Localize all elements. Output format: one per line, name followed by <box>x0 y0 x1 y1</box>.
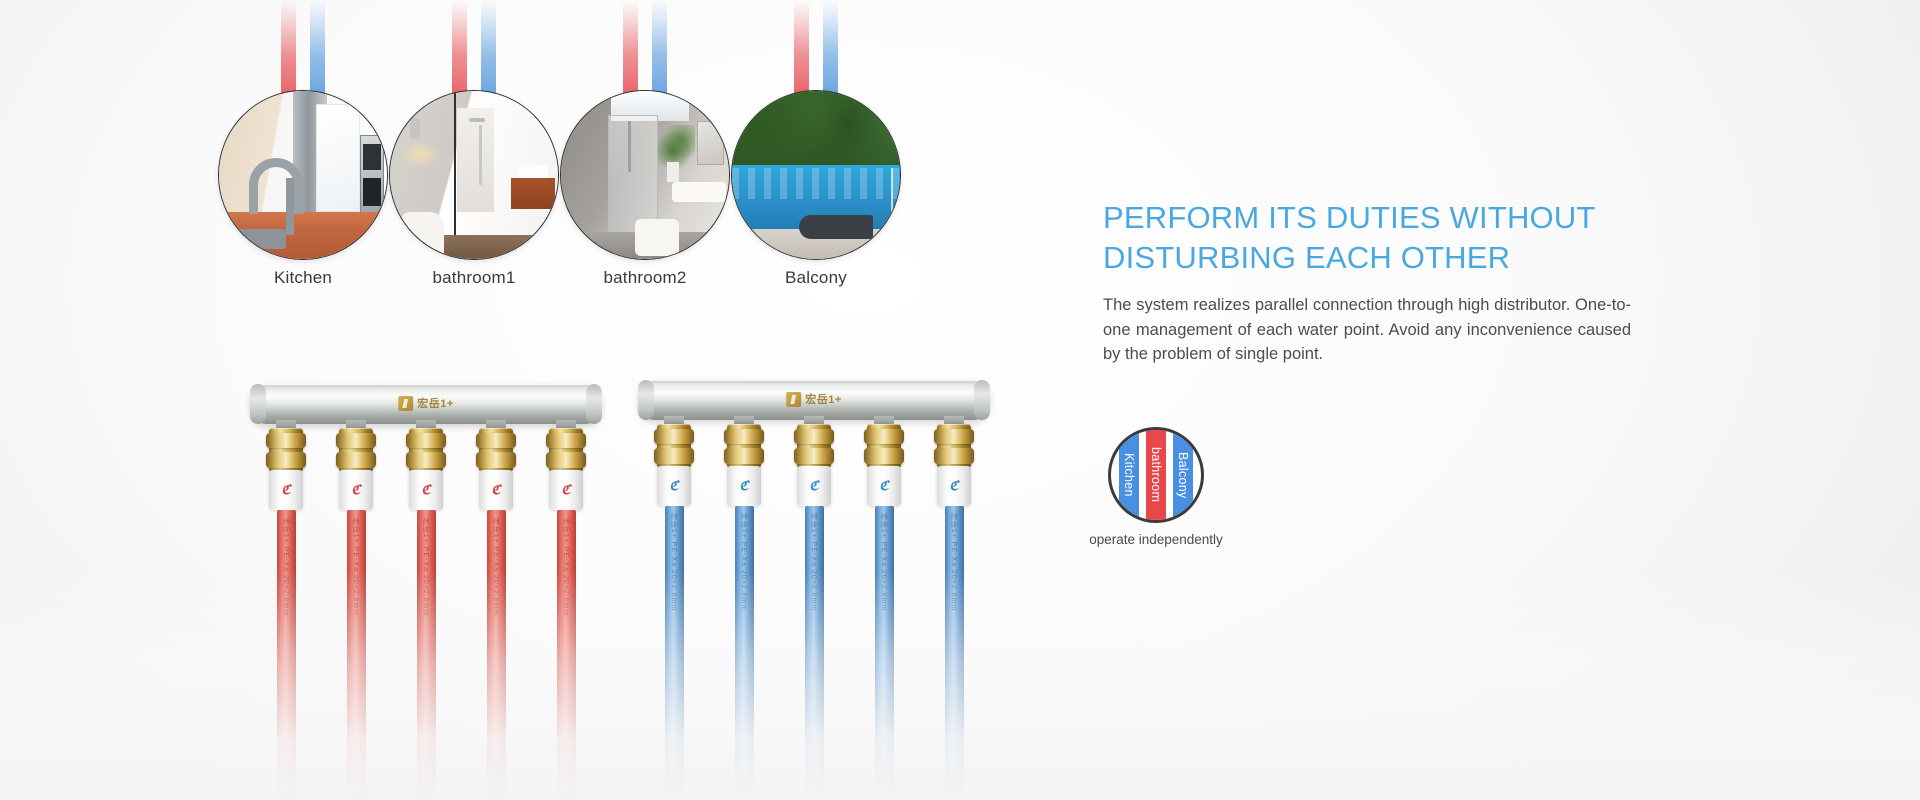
pipe-print: 宏岳1+ PE-Xa 20×2.8mm <box>421 518 431 616</box>
cold-water-pipe: 宏岳1+ PE-Xa 20×2.8mm <box>875 506 894 792</box>
outlet-assembly[interactable]: ℭ 宏岳1+ PE-Xa 20×2.8mm <box>727 424 761 792</box>
ppr-coupler: ℭ <box>269 470 303 510</box>
coupler-logo-icon: ℭ <box>949 478 958 494</box>
brass-hex-nut <box>934 429 974 444</box>
cold-water-pipe: 宏岳1+ PE-Xa 20×2.8mm <box>665 506 684 792</box>
page-title: PERFORM ITS DUTIES WITHOUT DISTURBING EA… <box>1103 198 1633 278</box>
description-text: The system realizes parallel connection … <box>1103 293 1631 367</box>
room-bathroom2[interactable]: bathroom2 <box>560 0 730 290</box>
badge-circle: KitchenbathroomBalcony <box>1108 427 1204 523</box>
room-label: Balcony <box>785 268 847 288</box>
brass-collar <box>266 452 306 468</box>
outlet-assembly[interactable]: ℭ 宏岳1+ PE-Xa 20×2.8mm <box>549 428 583 800</box>
brass-hex-nut <box>336 433 376 448</box>
hot-water-pipe: 宏岳1+ PE-Xa 20×2.8mm <box>417 510 436 800</box>
brass-fitting <box>479 428 513 472</box>
outlet-assembly[interactable]: ℭ 宏岳1+ PE-Xa 20×2.8mm <box>797 424 831 792</box>
hot-ribbon <box>794 0 809 96</box>
outlet-assembly[interactable]: ℭ 宏岳1+ PE-Xa 20×2.8mm <box>479 428 513 800</box>
badge-caption: operate independently <box>1086 532 1226 547</box>
brass-fitting <box>657 424 691 468</box>
pipe-print: 宏岳1+ PE-Xa 20×2.8mm <box>879 513 889 611</box>
ppr-coupler: ℭ <box>937 466 971 506</box>
hot-water-pipe: 宏岳1+ PE-Xa 20×2.8mm <box>557 510 576 800</box>
hot-water-pipe: 宏岳1+ PE-Xa 20×2.8mm <box>277 510 296 800</box>
pipe-ribbons <box>281 0 325 96</box>
brass-fitting <box>867 424 901 468</box>
room-photo-bathroom1[interactable] <box>389 90 559 260</box>
hot-ribbon <box>623 0 638 96</box>
coupler-logo-icon: ℭ <box>739 478 748 494</box>
tube-end-cap-left <box>638 380 654 420</box>
room-label: bathroom1 <box>432 268 515 288</box>
outlet-assembly[interactable]: ℭ 宏岳1+ PE-Xa 20×2.8mm <box>937 424 971 792</box>
badge-stripe-label: Kitchen <box>1122 453 1136 497</box>
brand-label: 宏岳1+ <box>398 395 454 411</box>
manifold-tube: 宏岳1+ <box>638 380 990 420</box>
ppr-coupler: ℭ <box>479 470 513 510</box>
brass-hex-nut <box>654 429 694 444</box>
ppr-coupler: ℭ <box>657 466 691 506</box>
badge-stripe-kitchen: Kitchen <box>1119 430 1139 520</box>
brand-mark-icon <box>786 392 801 407</box>
badge-stripe-label: bathroom <box>1149 447 1163 502</box>
ppr-coupler: ℭ <box>339 470 373 510</box>
room-photo-balcony[interactable] <box>731 90 901 260</box>
pipe-ribbons <box>794 0 838 96</box>
pipe-print: 宏岳1+ PE-Xa 20×2.8mm <box>351 518 361 616</box>
cold-water-pipe: 宏岳1+ PE-Xa 20×2.8mm <box>945 506 964 792</box>
outlet-assembly[interactable]: ℭ 宏岳1+ PE-Xa 20×2.8mm <box>339 428 373 800</box>
coupler-logo-icon: ℭ <box>491 482 500 498</box>
tube-end-cap-left <box>250 384 266 424</box>
brass-hex-nut <box>794 429 834 444</box>
room-kitchen[interactable]: Kitchen <box>218 0 388 290</box>
ppr-coupler: ℭ <box>549 470 583 510</box>
brass-fitting <box>549 428 583 472</box>
brass-hex-nut <box>266 433 306 448</box>
coupler-logo-icon: ℭ <box>879 478 888 494</box>
brass-hex-nut <box>476 433 516 448</box>
hot-water-pipe: 宏岳1+ PE-Xa 20×2.8mm <box>487 510 506 800</box>
pipe-ribbons <box>452 0 496 96</box>
brand-name: 宏岳1+ <box>805 391 842 407</box>
ppr-coupler: ℭ <box>727 466 761 506</box>
brass-collar <box>546 452 586 468</box>
cold-ribbon <box>823 0 838 96</box>
cold-ribbon <box>481 0 496 96</box>
pipe-print: 宏岳1+ PE-Xa 20×2.8mm <box>949 513 959 611</box>
room-photo-bathroom2[interactable] <box>560 90 730 260</box>
pipe-print: 宏岳1+ PE-Xa 20×2.8mm <box>491 518 501 616</box>
outlet-assembly[interactable]: ℭ 宏岳1+ PE-Xa 20×2.8mm <box>409 428 443 800</box>
brass-fitting <box>409 428 443 472</box>
cold-water-pipe: 宏岳1+ PE-Xa 20×2.8mm <box>735 506 754 792</box>
brass-hex-nut <box>546 433 586 448</box>
brass-hex-nut <box>724 429 764 444</box>
brass-collar <box>654 448 694 464</box>
pipe-ribbons <box>623 0 667 96</box>
hot-water-pipe: 宏岳1+ PE-Xa 20×2.8mm <box>347 510 366 800</box>
room-label: Kitchen <box>274 268 332 288</box>
coupler-logo-icon: ℭ <box>421 482 430 498</box>
ppr-coupler: ℭ <box>797 466 831 506</box>
coupler-logo-icon: ℭ <box>809 478 818 494</box>
brand-label: 宏岳1+ <box>786 391 842 407</box>
brass-collar <box>724 448 764 464</box>
brass-collar <box>794 448 834 464</box>
ppr-coupler: ℭ <box>867 466 901 506</box>
tube-end-cap-right <box>586 384 602 424</box>
promo-banner: Kitchen bathroom1 bathroom2 Balcony 宏岳1+… <box>0 0 1920 800</box>
brass-collar <box>476 452 516 468</box>
room-balcony[interactable]: Balcony <box>731 0 901 290</box>
badge-stripe-label: Balcony <box>1176 452 1190 499</box>
room-label: bathroom2 <box>603 268 686 288</box>
coupler-logo-icon: ℭ <box>281 482 290 498</box>
coupler-logo-icon: ℭ <box>351 482 360 498</box>
brass-fitting <box>339 428 373 472</box>
brass-fitting <box>937 424 971 468</box>
badge-stripe-balcony: Balcony <box>1173 430 1193 520</box>
pipe-print: 宏岳1+ PE-Xa 20×2.8mm <box>809 513 819 611</box>
hot-ribbon <box>281 0 296 96</box>
brass-collar <box>406 452 446 468</box>
cold-ribbon <box>652 0 667 96</box>
ppr-coupler: ℭ <box>409 470 443 510</box>
pipe-print: 宏岳1+ PE-Xa 20×2.8mm <box>669 513 679 611</box>
room-photo-kitchen[interactable] <box>218 90 388 260</box>
hot-ribbon <box>452 0 467 96</box>
outlet-assembly[interactable]: ℭ 宏岳1+ PE-Xa 20×2.8mm <box>269 428 303 800</box>
brass-collar <box>934 448 974 464</box>
cold-water-pipe: 宏岳1+ PE-Xa 20×2.8mm <box>805 506 824 792</box>
independent-operation-badge: KitchenbathroomBalcony operate independe… <box>1108 427 1226 547</box>
coupler-logo-icon: ℭ <box>561 482 570 498</box>
brass-collar <box>864 448 904 464</box>
tube-end-cap-right <box>974 380 990 420</box>
brand-mark-icon <box>398 396 413 411</box>
brass-collar <box>336 452 376 468</box>
room-bathroom1[interactable]: bathroom1 <box>389 0 559 290</box>
pipe-print: 宏岳1+ PE-Xa 20×2.8mm <box>739 513 749 611</box>
manifold-tube: 宏岳1+ <box>250 384 602 424</box>
brass-hex-nut <box>406 433 446 448</box>
badge-stripe-bathroom: bathroom <box>1146 430 1166 520</box>
outlet-assembly[interactable]: ℭ 宏岳1+ PE-Xa 20×2.8mm <box>657 424 691 792</box>
brand-name: 宏岳1+ <box>417 395 454 411</box>
outlet-assembly[interactable]: ℭ 宏岳1+ PE-Xa 20×2.8mm <box>867 424 901 792</box>
cold-ribbon <box>310 0 325 96</box>
coupler-logo-icon: ℭ <box>669 478 678 494</box>
brass-hex-nut <box>864 429 904 444</box>
brass-fitting <box>797 424 831 468</box>
brass-fitting <box>269 428 303 472</box>
pipe-print: 宏岳1+ PE-Xa 20×2.8mm <box>561 518 571 616</box>
pipe-print: 宏岳1+ PE-Xa 20×2.8mm <box>281 518 291 616</box>
brass-fitting <box>727 424 761 468</box>
